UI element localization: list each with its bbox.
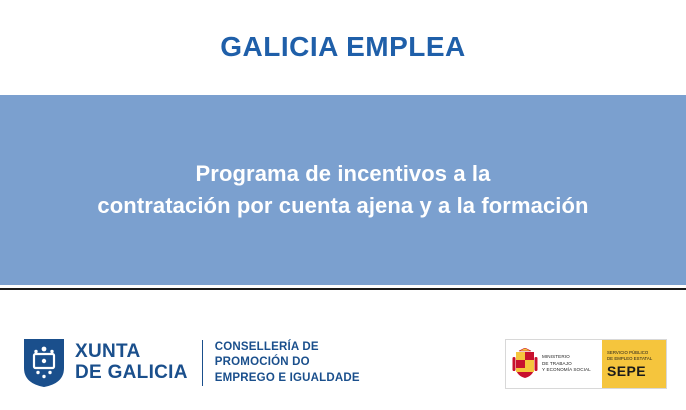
logo-vertical-divider [202, 340, 203, 386]
spanish-coat-of-arms-icon [512, 348, 538, 380]
xunta-de-galicia-logo: XUNTA DE GALICIA CONSELLERÍA DE PROMOCIÓ… [22, 338, 360, 388]
sepe-line-2: DE EMPLEO ESTATAL [607, 356, 666, 362]
highlight-band: Programa de incentivos a la contratación… [0, 95, 686, 285]
subtitle: Programa de incentivos a la contratación… [75, 158, 610, 222]
conselleria-line-3: EMPREGO E IGUALDADE [215, 372, 360, 384]
page-title: GALICIA EMPLEA [220, 32, 466, 63]
ministerio-text: MINISTERIO DE TRABAJO Y ECONOMÍA SOCIAL [542, 354, 591, 374]
sepe-acronym: SEPE [607, 364, 666, 378]
conselleria-line-2: PROMOCIÓN DO [215, 356, 310, 368]
ministerio-line-1: MINISTERIO [542, 354, 591, 361]
subtitle-line-1: Programa de incentivos a la [196, 161, 491, 186]
xunta-wordmark: XUNTA DE GALICIA [75, 342, 188, 383]
xunta-shield-icon [22, 338, 66, 388]
conselleria-line-1: CONSELLERÍA DE [215, 341, 319, 353]
sepe-description: SERVICIO PÚBLICO DE EMPLEO ESTATAL [607, 350, 666, 362]
slide-page: GALICIA EMPLEA Programa de incentivos a … [0, 0, 686, 410]
title-zone: GALICIA EMPLEA [0, 0, 686, 95]
subtitle-line-2: contratación por cuenta ajena y a la for… [97, 193, 588, 218]
footer-logo-bar: XUNTA DE GALICIA CONSELLERÍA DE PROMOCIÓ… [0, 290, 686, 410]
xunta-word-1: XUNTA [75, 341, 141, 362]
ministerio-line-3: Y ECONOMÍA SOCIAL [542, 367, 591, 374]
conselleria-text: CONSELLERÍA DE PROMOCIÓN DO EMPREGO E IG… [215, 340, 360, 386]
gobierno-sepe-logo: MINISTERIO DE TRABAJO Y ECONOMÍA SOCIAL … [505, 339, 667, 389]
xunta-word-2: DE GALICIA [75, 362, 188, 383]
sepe-block: SERVICIO PÚBLICO DE EMPLEO ESTATAL SEPE [602, 340, 666, 388]
ministerio-block: MINISTERIO DE TRABAJO Y ECONOMÍA SOCIAL [506, 340, 602, 388]
